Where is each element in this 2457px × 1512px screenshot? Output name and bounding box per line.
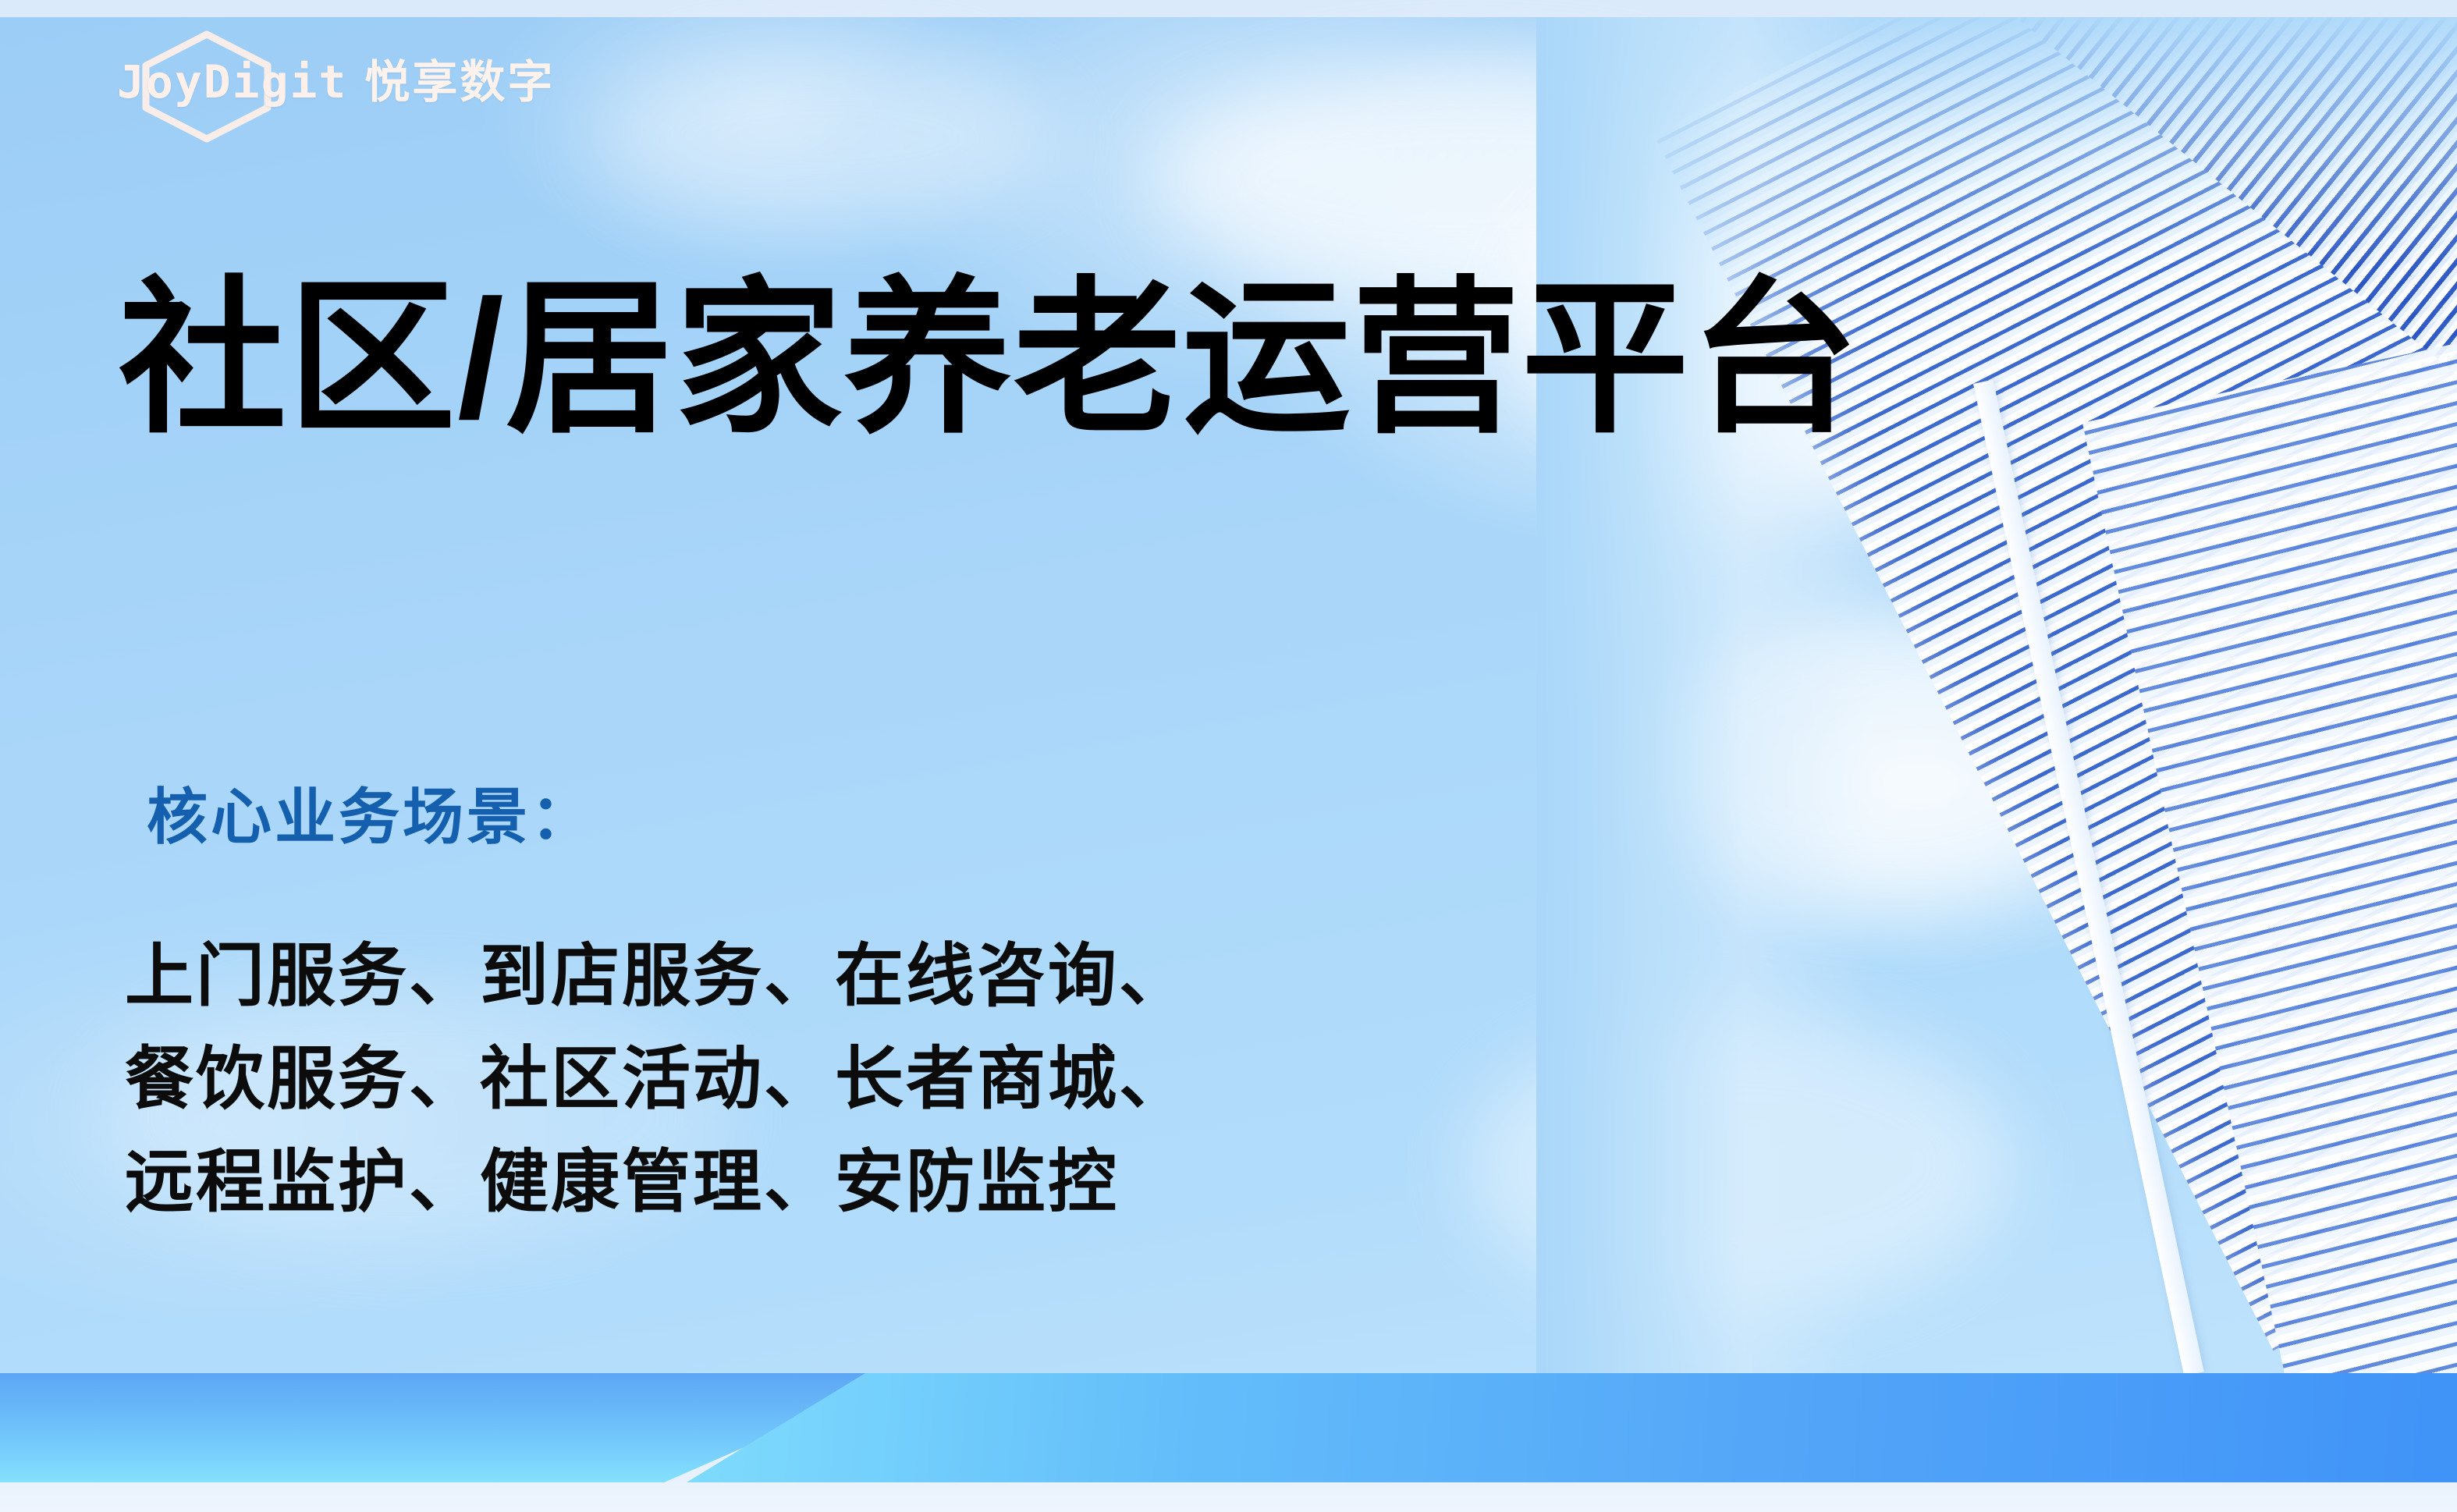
scenario-list: 上门服务、到店服务、在线咨询、 餐饮服务、社区活动、长者商城、 远程监护、健康管… — [125, 925, 1190, 1233]
scenario-line-1: 上门服务、到店服务、在线咨询、 — [125, 925, 1190, 1028]
brand-name-en: JoyDigit — [117, 55, 347, 108]
brand-logo[interactable]: JoyDigit 悦享数字 — [117, 23, 679, 140]
brand-logo-text: JoyDigit 悦享数字 — [117, 45, 679, 111]
slide-root: JoyDigit 悦享数字 社区/居家养老运营平台 核心业务场景： 上门服务、到… — [0, 0, 2457, 1512]
section-heading: 核心业务场景： — [147, 768, 595, 856]
page-title: 社区/居家养老运营平台 — [119, 265, 1860, 453]
building-photo — [1536, 17, 2457, 1373]
building-left-fade — [1536, 17, 1872, 1373]
bottom-decorative-band — [0, 1373, 2457, 1512]
scenario-line-2: 餐饮服务、社区活动、长者商城、 — [125, 1028, 1190, 1130]
band-shape-right — [687, 1373, 2457, 1482]
top-strip — [0, 0, 2457, 17]
scenario-line-3: 远程监护、健康管理、安防监控 — [125, 1130, 1190, 1233]
brand-name-cn: 悦享数字 — [364, 45, 555, 111]
